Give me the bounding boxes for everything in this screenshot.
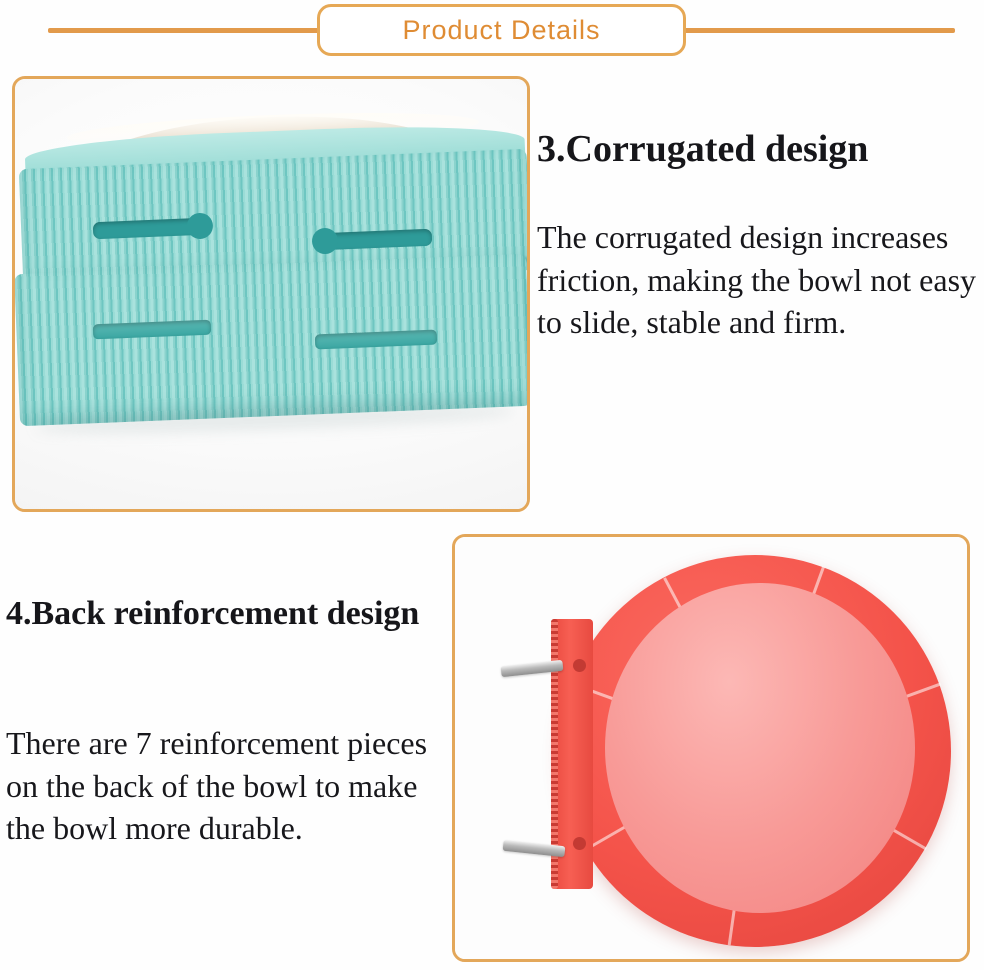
section-heading-back-reinforcement: 4.Back reinforcement design [6, 596, 458, 633]
section-heading-corrugated-design: 3.Corrugated design [537, 129, 983, 170]
photo-frame-back-reinforcement [452, 534, 970, 962]
header-rule-left [48, 28, 320, 33]
red-bowl-back-reinforcement-photo [455, 537, 967, 959]
teal-bowl-corrugated-base-photo [15, 79, 527, 509]
photo-frame-corrugated-design [12, 76, 530, 512]
bracket-screw-hole-bottom [573, 837, 586, 850]
corrugated-band-lower [14, 254, 530, 426]
bracket-screw-hole-top [573, 659, 586, 672]
page-title: Product Details [402, 15, 600, 46]
header-rule-right [683, 28, 955, 33]
section-body-corrugated-design: The corrugated design increases friction… [537, 216, 984, 344]
page-header: Product Details [0, 0, 984, 62]
section-body-back-reinforcement: There are 7 reinforcement pieces on the … [6, 722, 452, 850]
header-title-box: Product Details [317, 4, 686, 56]
bowl-back-dome [605, 583, 915, 913]
